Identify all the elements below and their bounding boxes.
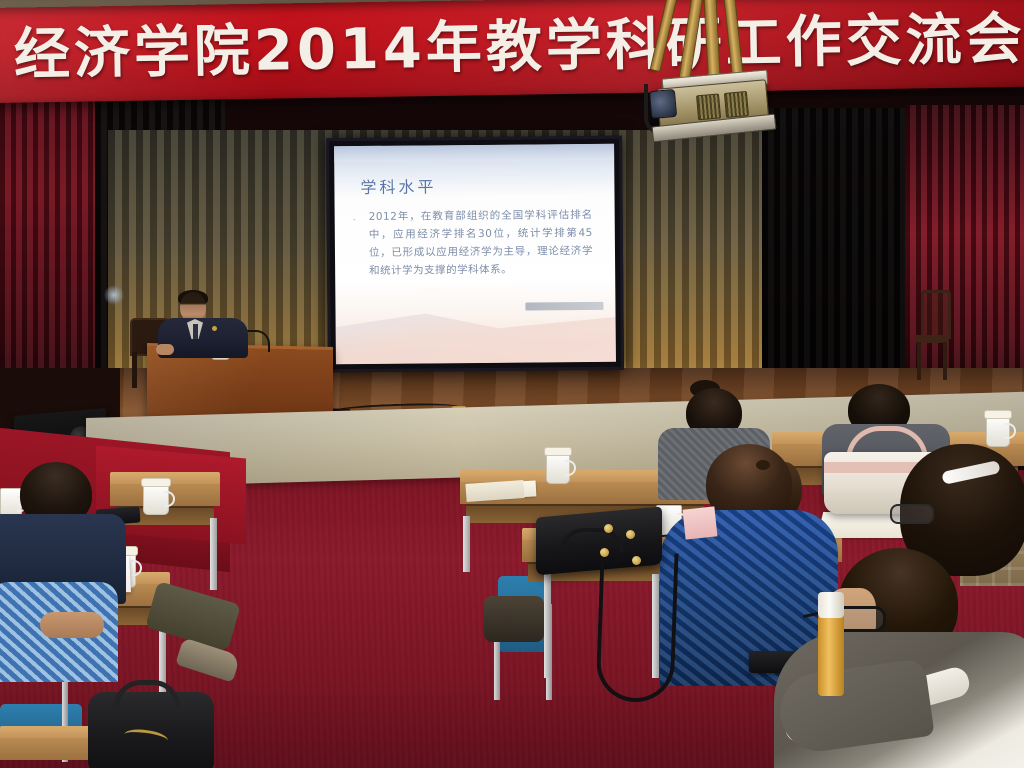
handbag-hardware (626, 530, 635, 539)
mug-lid (544, 447, 572, 456)
chair-leg (943, 342, 947, 380)
backpack-zipper (123, 727, 169, 748)
slide-header-band (334, 144, 614, 162)
presenter-badge-icon (212, 326, 217, 331)
attendee-arm (40, 612, 104, 638)
conference-banner: 经济学院2014年教学科研工作交流会 (0, 0, 1024, 103)
lidded-teacup (986, 415, 1010, 447)
bag-under-desk (484, 596, 544, 642)
chair-back (921, 290, 951, 339)
white-mug (546, 452, 570, 484)
stage-curtain-dark-right (762, 108, 912, 408)
projector-mount-arm (650, 0, 678, 72)
presenter-person (160, 292, 252, 354)
teacup-lid (984, 410, 1012, 419)
handbag-hardware (632, 556, 641, 565)
projector-vent (696, 93, 721, 120)
wooden-chair-on-stage (915, 290, 949, 382)
chair-leg (917, 342, 921, 380)
projection-screen: 学科水平 · 2012年，在教育部组织的全国学科评估排名中，应用经济学排名30位… (326, 136, 624, 373)
desk-leg (544, 574, 551, 678)
black-backpack (88, 692, 214, 768)
slide-bullet-marker: · (353, 214, 356, 224)
handbag-hardware (604, 524, 613, 533)
eyeglasses (890, 504, 934, 524)
lens-flare (104, 285, 124, 305)
stage-backdrop-curtain-gold-right (612, 130, 772, 388)
presenter-tie (193, 324, 198, 339)
slide-watermark (525, 302, 603, 311)
pink-card (683, 506, 718, 539)
desk-leg (463, 516, 470, 572)
hair-tie (756, 460, 770, 470)
black-handbag-strap (595, 551, 678, 704)
desk-leg (210, 518, 217, 590)
conference-photo: 经济学院2014年教学科研工作交流会 学科水平 · 2012年，在教育部组织的全… (0, 0, 1024, 768)
presenter-hand (156, 344, 174, 355)
projector-vent (724, 91, 749, 118)
slide-title: 学科水平 (360, 173, 436, 198)
white-mug (143, 483, 169, 515)
chair-leg (132, 352, 137, 388)
presentation-slide: 学科水平 · 2012年，在教育部组织的全国学科评估排名中，应用经济学排名30位… (334, 144, 616, 364)
attendee-man-striped-shirt (0, 572, 120, 682)
thermos-cap (818, 592, 844, 618)
slide-body-text: 2012年，在教育部组织的全国学科评估排名中，应用经济学排名30位，统计学排第4… (369, 206, 594, 280)
mug-lid (141, 478, 171, 487)
banner-title: 经济学院2014年教学科研工作交流会 (14, 11, 1024, 83)
ceiling-projector (640, 0, 780, 135)
handbag-hardware (600, 548, 609, 557)
orange-thermos (818, 614, 844, 696)
